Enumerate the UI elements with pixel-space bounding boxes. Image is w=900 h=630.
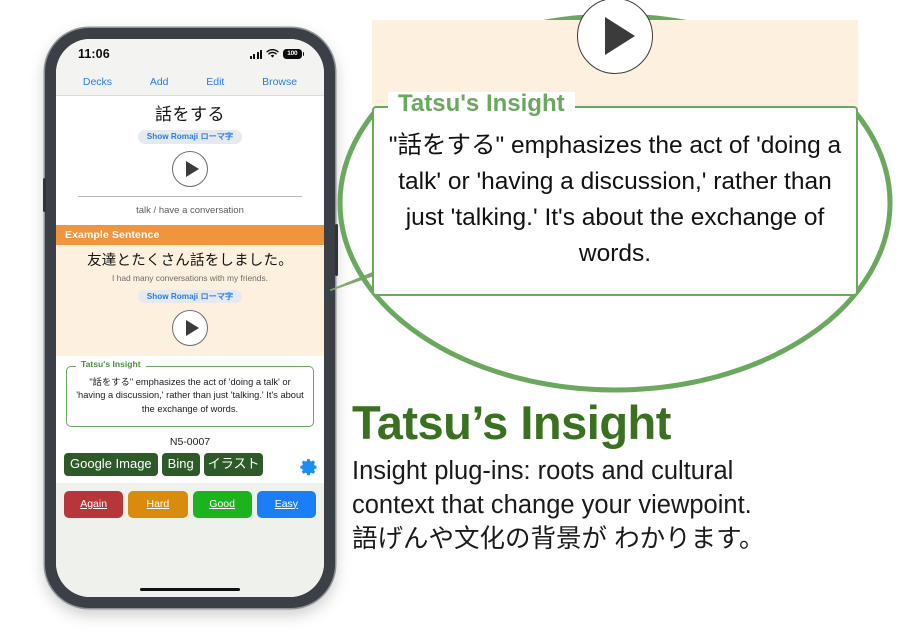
nav-add[interactable]: Add	[150, 76, 169, 88]
phone-volume-button	[43, 178, 46, 212]
wifi-icon	[266, 49, 279, 59]
insight-text: "話をする" emphasizes the act of 'doing a ta…	[74, 376, 306, 418]
insight-legend: Tatsu's Insight	[76, 360, 146, 369]
callout-ellipse	[340, 16, 890, 390]
example-sentence-en: I had many conversations with my friends…	[64, 273, 316, 283]
example-sentence-header: Example Sentence	[56, 225, 324, 245]
home-indicator[interactable]	[140, 588, 240, 591]
play-audio-button-front[interactable]	[172, 151, 208, 187]
example-sentence-body: 友達とたくさん話をしました。 I had many conversations …	[56, 245, 324, 356]
play-icon	[186, 161, 199, 177]
card-front: 話をする Show Romaji ローマ字	[56, 96, 324, 197]
show-romaji-button-example[interactable]: Show Romaji ローマ字	[138, 290, 242, 303]
poster-canvas: 11:06 100 Decks Add	[0, 0, 900, 630]
phone-screen: 11:06 100 Decks Add	[56, 39, 324, 597]
callout-bubble-shape	[330, 8, 900, 418]
caption-block: Tatsu’s Insight Insight plug-ins: roots …	[352, 398, 872, 556]
good-button[interactable]: Good	[193, 491, 252, 518]
insight-section: Tatsu's Insight "話をする" emphasizes the ac…	[56, 356, 324, 428]
vocab-word: 話をする	[64, 105, 316, 125]
nav-decks[interactable]: Decks	[83, 76, 112, 88]
caption-line-2: context that change your viewpoint.	[352, 489, 872, 523]
caption-line-3: 語げんや文化の背景が わかります。	[352, 523, 872, 557]
lookup-button-row: Google Image Bing イラスト	[56, 453, 324, 475]
status-clock: 11:06	[78, 47, 110, 61]
status-bar: 11:06 100	[56, 39, 324, 69]
show-romaji-button-front[interactable]: Show Romaji ローマ字	[138, 130, 242, 143]
anki-nav-bar: Decks Add Edit Browse	[56, 69, 324, 96]
play-icon	[186, 320, 199, 336]
answer-button-row: Again Hard Good Easy	[56, 483, 324, 518]
nav-edit[interactable]: Edit	[206, 76, 224, 88]
battery-icon: 100	[283, 49, 304, 59]
bing-button[interactable]: Bing	[162, 453, 200, 475]
word-meaning: talk / have a conversation	[56, 197, 324, 225]
play-audio-button-example[interactable]	[172, 310, 208, 346]
again-button[interactable]: Again	[64, 491, 123, 518]
example-sentence-card: Example Sentence 友達とたくさん話をしました。 I had ma…	[56, 225, 324, 356]
status-indicators: 100	[250, 49, 304, 59]
callout-tail	[330, 188, 630, 298]
example-sentence-jp: 友達とたくさん話をしました。	[64, 252, 316, 270]
caption-title: Tatsu’s Insight	[352, 398, 872, 447]
phone-mockup: 11:06 100 Decks Add	[45, 28, 335, 608]
gear-icon[interactable]	[299, 457, 319, 477]
home-indicator-area	[56, 518, 324, 597]
caption-line-1: Insight plug-ins: roots and cultural	[352, 455, 872, 489]
card-id: N5-0007	[56, 427, 324, 453]
illustration-button[interactable]: イラスト	[204, 453, 264, 475]
hard-button[interactable]: Hard	[128, 491, 187, 518]
google-image-button[interactable]: Google Image	[64, 453, 158, 475]
insight-box: Tatsu's Insight "話をする" emphasizes the ac…	[66, 366, 314, 428]
easy-button[interactable]: Easy	[257, 491, 316, 518]
cellular-signal-icon	[250, 50, 262, 59]
nav-browse[interactable]: Browse	[262, 76, 297, 88]
caption-body: Insight plug-ins: roots and cultural con…	[352, 455, 872, 556]
battery-level: 100	[287, 51, 297, 57]
